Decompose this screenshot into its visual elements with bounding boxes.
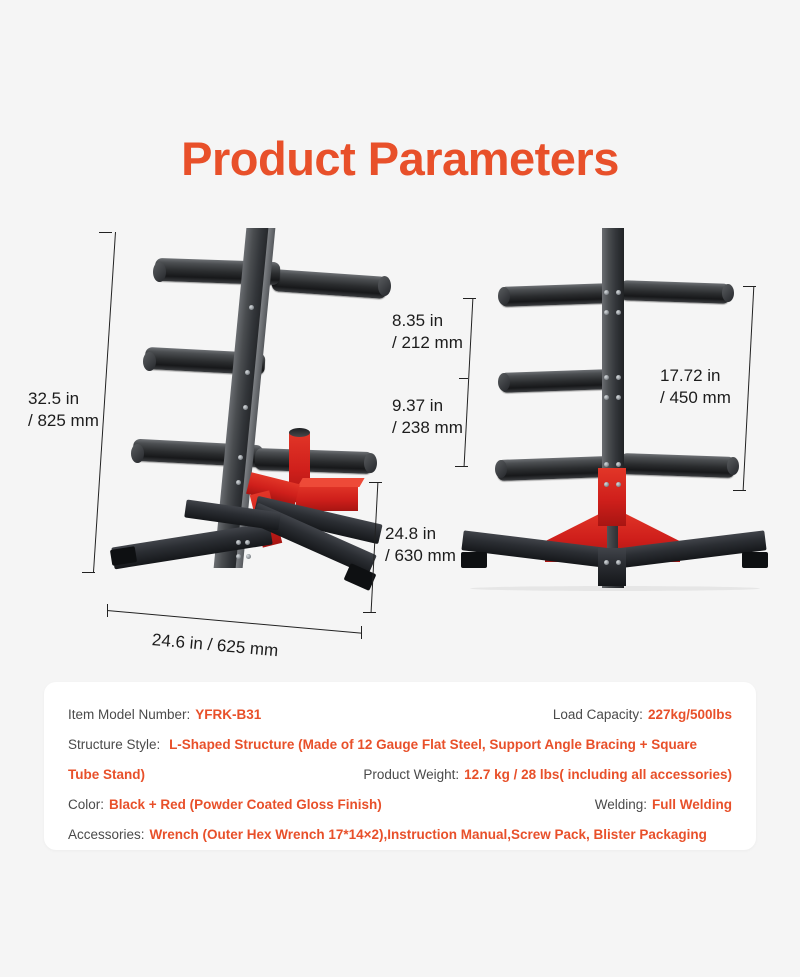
bolt-icon (236, 540, 241, 545)
spec-label: Structure Style: (68, 737, 160, 752)
dimension-tick-bottom (733, 490, 746, 491)
front-peg-top-left (500, 283, 611, 307)
dim-value-inches: 17.72 in (660, 366, 721, 385)
base-foot-front-left (111, 523, 272, 570)
bolt-icon (604, 560, 609, 565)
bolt-icon (616, 290, 621, 295)
dim-value-mm: / 212 mm (392, 333, 463, 352)
front-peg-cap-bottom-left (495, 460, 507, 478)
spec-value: YFRK-B31 (195, 700, 261, 730)
spec-label: Accessories: (68, 820, 145, 850)
bolt-icon (604, 462, 609, 467)
dimension-tick-right (361, 626, 362, 639)
bolt-icon (246, 554, 251, 559)
peg-cap-front-middle (143, 352, 156, 371)
bolt-icon (604, 375, 609, 380)
dim-value-base-width: 24.6 in / 625 mm (151, 630, 279, 660)
spec-row: Item Model Number: YFRK-B31 Load Capacit… (68, 700, 732, 730)
dim-value-inches: 9.37 in (392, 396, 443, 415)
bolt-icon (245, 370, 250, 375)
front-base-center-block (598, 548, 626, 586)
front-peg-cap-bottom-right (727, 457, 739, 475)
dimension-label-lower-height: 24.8 in / 630 mm (385, 523, 456, 567)
dimension-tick-top (463, 298, 476, 299)
front-peg-bottom-right (620, 453, 736, 478)
dimension-tick-middle (459, 378, 468, 379)
bolt-icon (236, 480, 241, 485)
product-parameters-page: Product Parameters (0, 0, 800, 977)
bolt-icon (616, 482, 621, 487)
front-peg-cap-top-right (722, 284, 734, 302)
dim-value-mm: / 238 mm (392, 418, 463, 437)
spec-row: Accessories: Wrench (Outer Hex Wrench 17… (68, 820, 732, 850)
bolt-icon (604, 395, 609, 400)
dim-value-inches: 24.8 in (385, 524, 436, 543)
dim-value-inches: 32.5 in (28, 389, 79, 408)
peg-rear-bottom (255, 448, 374, 474)
front-peg-cap-top-left (498, 287, 510, 305)
bolt-icon (616, 395, 621, 400)
bolt-icon (604, 482, 609, 487)
dimension-line-peg-spacing (464, 298, 474, 466)
bolt-icon (249, 305, 254, 310)
spec-welding: Welding: Full Welding (595, 790, 732, 820)
spec-value: 227kg/500lbs (648, 700, 732, 730)
bolt-icon (236, 554, 241, 559)
dim-value-mm: / 450 mm (660, 388, 731, 407)
front-base-foot-right-end (742, 552, 768, 568)
dimension-tick-top (369, 482, 382, 483)
bolt-icon (238, 455, 243, 460)
spec-label: Welding: (595, 790, 647, 820)
spec-rows: Item Model Number: YFRK-B31 Load Capacit… (68, 700, 732, 850)
front-peg-bottom-left (497, 456, 610, 481)
bolt-icon (245, 540, 250, 545)
spec-value: 12.7 kg / 28 lbs( including all accessor… (464, 760, 732, 790)
dimension-label-overall-height: 32.5 in / 825 mm (28, 388, 99, 432)
spec-value: Black + Red (Powder Coated Gloss Finish) (109, 790, 382, 820)
specification-card: Item Model Number: YFRK-B31 Load Capacit… (44, 682, 756, 850)
peg-cap-front-bottom (131, 444, 144, 463)
front-peg-cap-mid-left (498, 373, 510, 391)
page-title: Product Parameters (0, 131, 800, 186)
dim-value-inches: 8.35 in (392, 311, 443, 330)
spec-label: Load Capacity: (553, 700, 643, 730)
dimension-tick-left (107, 604, 108, 617)
spec-label: Item Model Number: (68, 700, 190, 730)
spec-item-model-number: Item Model Number: YFRK-B31 (68, 700, 261, 730)
bolt-icon (616, 375, 621, 380)
spec-accessories: Accessories: Wrench (Outer Hex Wrench 17… (68, 820, 707, 850)
bolt-icon (604, 290, 609, 295)
dimension-label-mid-peg-spacing: 9.37 in / 238 mm (392, 395, 463, 439)
dimension-label-peg-span-height: 17.72 in / 450 mm (660, 365, 731, 409)
dimension-tick-top (743, 286, 756, 287)
bolt-icon (243, 405, 248, 410)
bolt-icon (616, 310, 621, 315)
spec-label: Color: (68, 790, 104, 820)
bolt-icon (604, 310, 609, 315)
spec-color: Color: Black + Red (Powder Coated Gloss … (68, 790, 382, 820)
red-collar-front (598, 468, 626, 526)
front-base-foot-left-end (461, 552, 487, 568)
bolt-icon (616, 560, 621, 565)
product-illustration-area: 32.5 in / 825 mm 8.35 in / 212 mm 9.37 i… (0, 210, 800, 670)
spec-row: Structure Style: L-Shaped Structure (Mad… (68, 730, 732, 790)
dim-value-mm: / 630 mm (385, 546, 456, 565)
front-peg-top-right (620, 280, 731, 304)
dimension-label-base-width: 24.6 in / 625 mm (151, 629, 279, 662)
spec-label: Product Weight: (363, 760, 459, 790)
peg-rear-top (271, 269, 387, 299)
dimension-line-base-width (107, 610, 361, 634)
dimension-tick-top (99, 232, 112, 233)
spec-product-weight: Product Weight: 12.7 kg / 28 lbs( includ… (363, 760, 732, 790)
dimension-line-lower-height (371, 482, 379, 612)
dimension-line-peg-span-height (743, 286, 755, 490)
peg-cap-rear-top (378, 276, 391, 296)
base-shadow (470, 586, 760, 591)
red-tube-opening (289, 428, 310, 437)
dimension-label-top-peg-spacing: 8.35 in / 212 mm (392, 310, 463, 354)
bolt-icon (616, 462, 621, 467)
dim-value-mm: / 825 mm (28, 411, 99, 430)
peg-cap-front-top (153, 262, 166, 282)
spec-load-capacity: Load Capacity: 227kg/500lbs (553, 700, 732, 730)
dimension-tick-bottom (363, 612, 376, 613)
peg-cap-rear-bottom (364, 453, 377, 473)
front-peg-mid-left (500, 369, 611, 393)
spec-value: Wrench (Outer Hex Wrench 17*14×2),Instru… (150, 820, 707, 850)
spec-value: Full Welding (652, 790, 732, 820)
red-base-arm-right-top (297, 478, 364, 487)
spec-row: Color: Black + Red (Powder Coated Gloss … (68, 790, 732, 820)
dimension-tick-bottom (82, 572, 95, 573)
dimension-tick-bottom (455, 466, 468, 467)
